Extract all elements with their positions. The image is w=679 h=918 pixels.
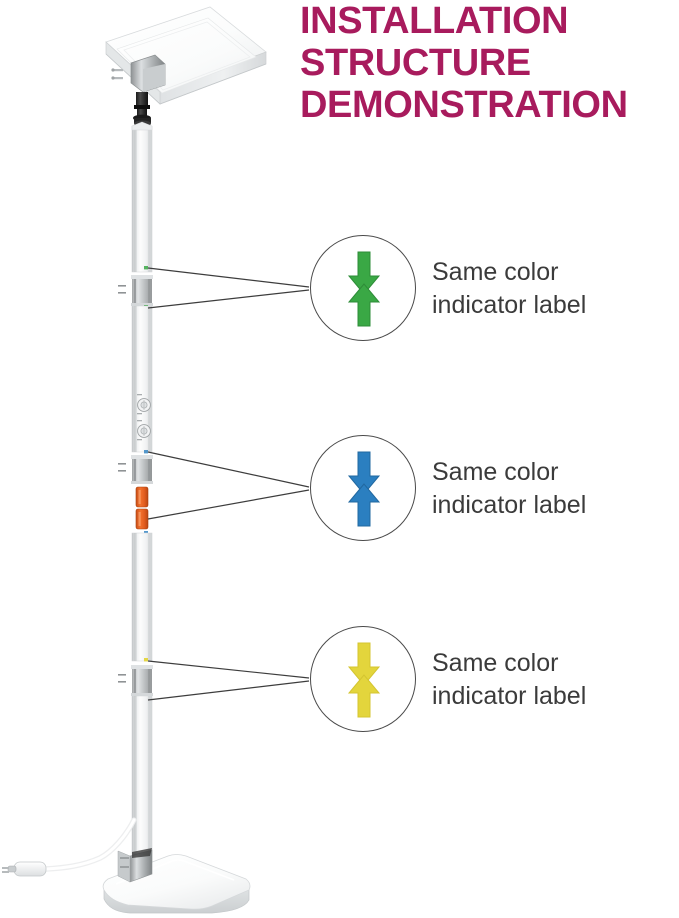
page-title: INSTALLATION STRUCTURE DEMONSTRATION	[300, 0, 679, 126]
callout-label-blue-line2: indicator label	[432, 489, 586, 522]
installation-structure-diagram: INSTALLATION STRUCTURE DEMONSTRATION Sam…	[0, 0, 679, 918]
leader-line-blue-top	[148, 452, 309, 487]
callout-label-yellow-line2: indicator label	[432, 680, 586, 713]
arrow-up-icon	[349, 484, 379, 526]
title-line-3: DEMONSTRATION	[300, 84, 679, 126]
callout-circle-green	[310, 235, 416, 341]
title-line-1: INSTALLATION	[300, 0, 679, 42]
green-arrow-pair-icon	[311, 236, 417, 342]
callout-label-blue-line1: Same color	[432, 456, 586, 489]
callout-circle-yellow	[310, 626, 416, 732]
leader-line-yellow-bottom	[148, 681, 309, 700]
arrow-up-icon	[349, 675, 379, 717]
callout-label-yellow-line1: Same color	[432, 647, 586, 680]
callout-label-green-line2: indicator label	[432, 289, 586, 322]
title-line-2: STRUCTURE	[300, 42, 679, 84]
blue-arrow-pair-icon	[311, 436, 417, 542]
leader-line-blue-bottom	[148, 490, 309, 519]
callout-circle-blue	[310, 435, 416, 541]
callout-label-yellow: Same color indicator label	[432, 647, 586, 713]
leader-line-green-bottom	[148, 290, 309, 308]
callout-label-green: Same color indicator label	[432, 256, 586, 322]
callout-label-green-line1: Same color	[432, 256, 586, 289]
yellow-arrow-pair-icon	[311, 627, 417, 733]
arrow-up-icon	[349, 284, 379, 326]
callout-label-blue: Same color indicator label	[432, 456, 586, 522]
leader-line-green-top	[148, 268, 309, 287]
leader-line-yellow-top	[148, 661, 309, 678]
